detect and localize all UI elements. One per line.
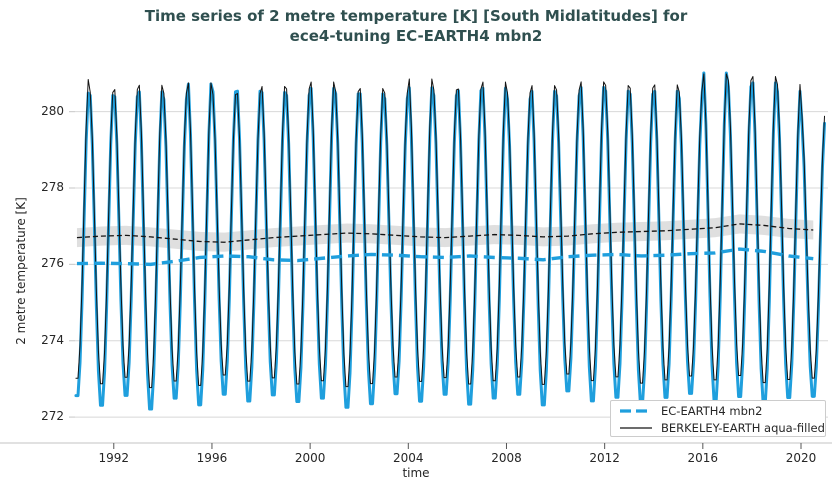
legend-item-reference: BERKELEY-EARTH aqua-filled	[619, 419, 825, 437]
legend-label-reference: BERKELEY-EARTH aqua-filled	[661, 421, 825, 435]
y-tick-label: 280	[18, 104, 64, 118]
x-tick-label: 2004	[378, 451, 438, 465]
y-tick-label: 274	[18, 333, 64, 347]
x-tick-label: 2020	[771, 451, 831, 465]
chart-figure: Time series of 2 metre temperature [K] […	[0, 0, 832, 495]
legend-swatch-solid-line	[619, 423, 653, 433]
legend-item-model: EC-EARTH4 mbn2	[619, 402, 762, 420]
y-tick-label: 278	[18, 180, 64, 194]
legend-label-model: EC-EARTH4 mbn2	[661, 404, 762, 418]
x-tick-label: 2016	[673, 451, 733, 465]
chart-title-line-2: ece4-tuning EC-EARTH4 mbn2	[0, 26, 832, 46]
uncertainty-band	[77, 214, 813, 251]
y-tick-label: 272	[18, 409, 64, 423]
x-tick-label: 2008	[476, 451, 536, 465]
x-tick-label: 1992	[84, 451, 144, 465]
x-axis-label: time	[0, 466, 832, 480]
chart-title: Time series of 2 metre temperature [K] […	[0, 6, 832, 46]
x-tick-label: 2000	[280, 451, 340, 465]
annual-mean-model	[77, 249, 813, 264]
chart-legend[interactable]: EC-EARTH4 mbn2 BERKELEY-EARTH aqua-fille…	[610, 400, 826, 437]
chart-title-line-1: Time series of 2 metre temperature [K] […	[0, 6, 832, 26]
x-tick-label: 1996	[182, 451, 242, 465]
legend-swatch-dashed-line	[619, 406, 653, 416]
x-tick-label: 2012	[575, 451, 635, 465]
y-tick-label: 276	[18, 256, 64, 270]
